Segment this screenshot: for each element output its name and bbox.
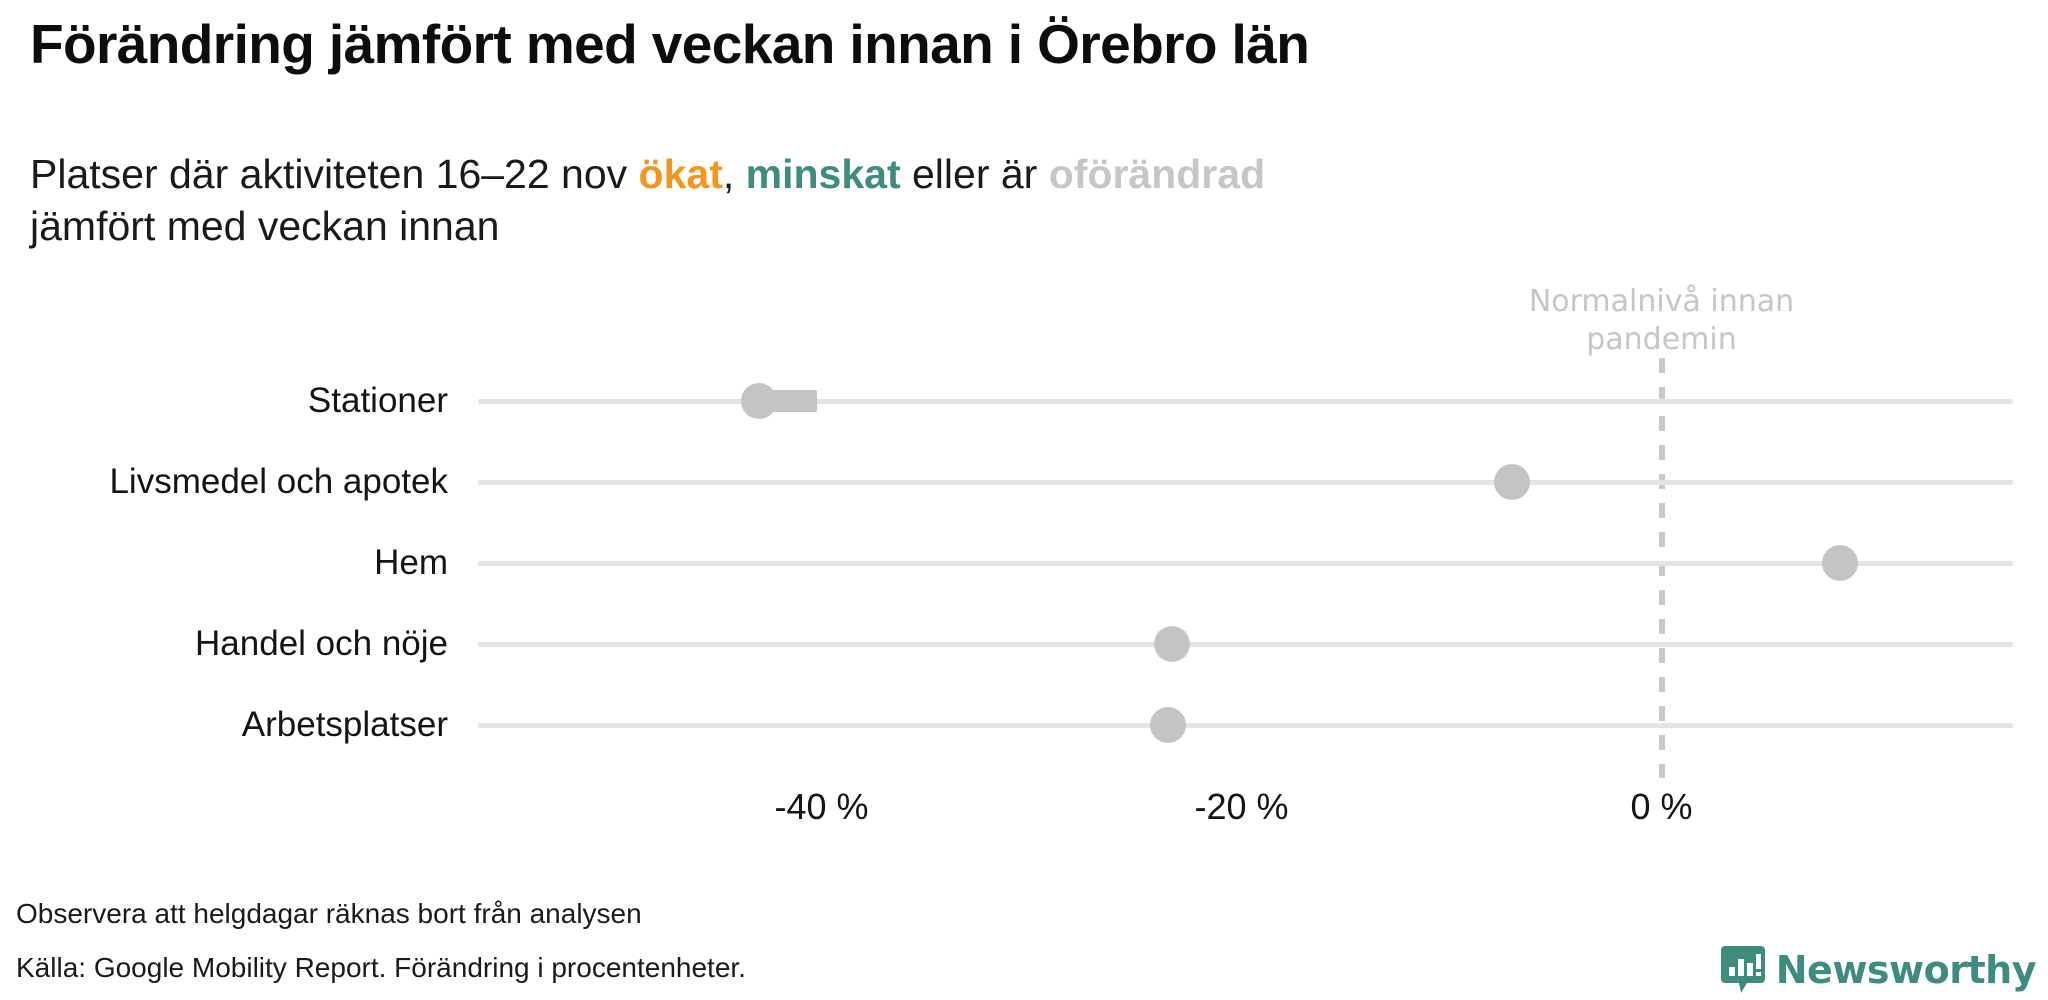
x-tick-label: -40 % [702,786,942,828]
newsworthy-wordmark: Newsworthy [1776,951,2036,989]
row-track [478,642,2013,647]
row-label-5: Arbetsplatser [242,705,448,745]
row-track [478,480,2013,485]
data-point-marker[interactable] [1494,464,1530,500]
row-label-2: Livsmedel och apotek [109,462,448,502]
chart-plot-area: Normalnivå innan pandemin StationerLivsm… [0,0,2048,1000]
chart-note: Observera att helgdagar räknas bort från… [16,898,642,930]
x-tick-label: 0 % [1542,786,1782,828]
zero-line-annotation-line-2: pandemin [1586,322,1737,357]
row-label-3: Hem [374,543,448,583]
chart-row: Stationer [0,381,2048,421]
row-track [478,723,2013,728]
row-label-1: Stationer [308,381,448,421]
chart-row: Livsmedel och apotek [0,462,2048,502]
chart-row: Handel och nöje [0,624,2048,664]
data-point-marker[interactable] [1154,626,1190,662]
x-tick-label: -20 % [1122,786,1362,828]
chart-row: Hem [0,543,2048,583]
row-track [478,561,2013,566]
chart-row: Arbetsplatser [0,705,2048,745]
zero-line-annotation: Normalnivå innan pandemin [1492,283,1832,358]
row-track [478,399,2013,404]
row-label-4: Handel och nöje [195,624,448,664]
data-point-marker[interactable] [741,383,777,419]
zero-line-annotation-line-1: Normalnivå innan [1529,284,1794,319]
newsworthy-logo[interactable]: Newsworthy [1721,948,2036,992]
chart-source: Källa: Google Mobility Report. Förändrin… [16,952,746,984]
data-point-marker[interactable] [1150,707,1186,743]
data-point-marker[interactable] [1822,545,1858,581]
bar-chart-speech-bubble-icon [1721,946,1765,994]
